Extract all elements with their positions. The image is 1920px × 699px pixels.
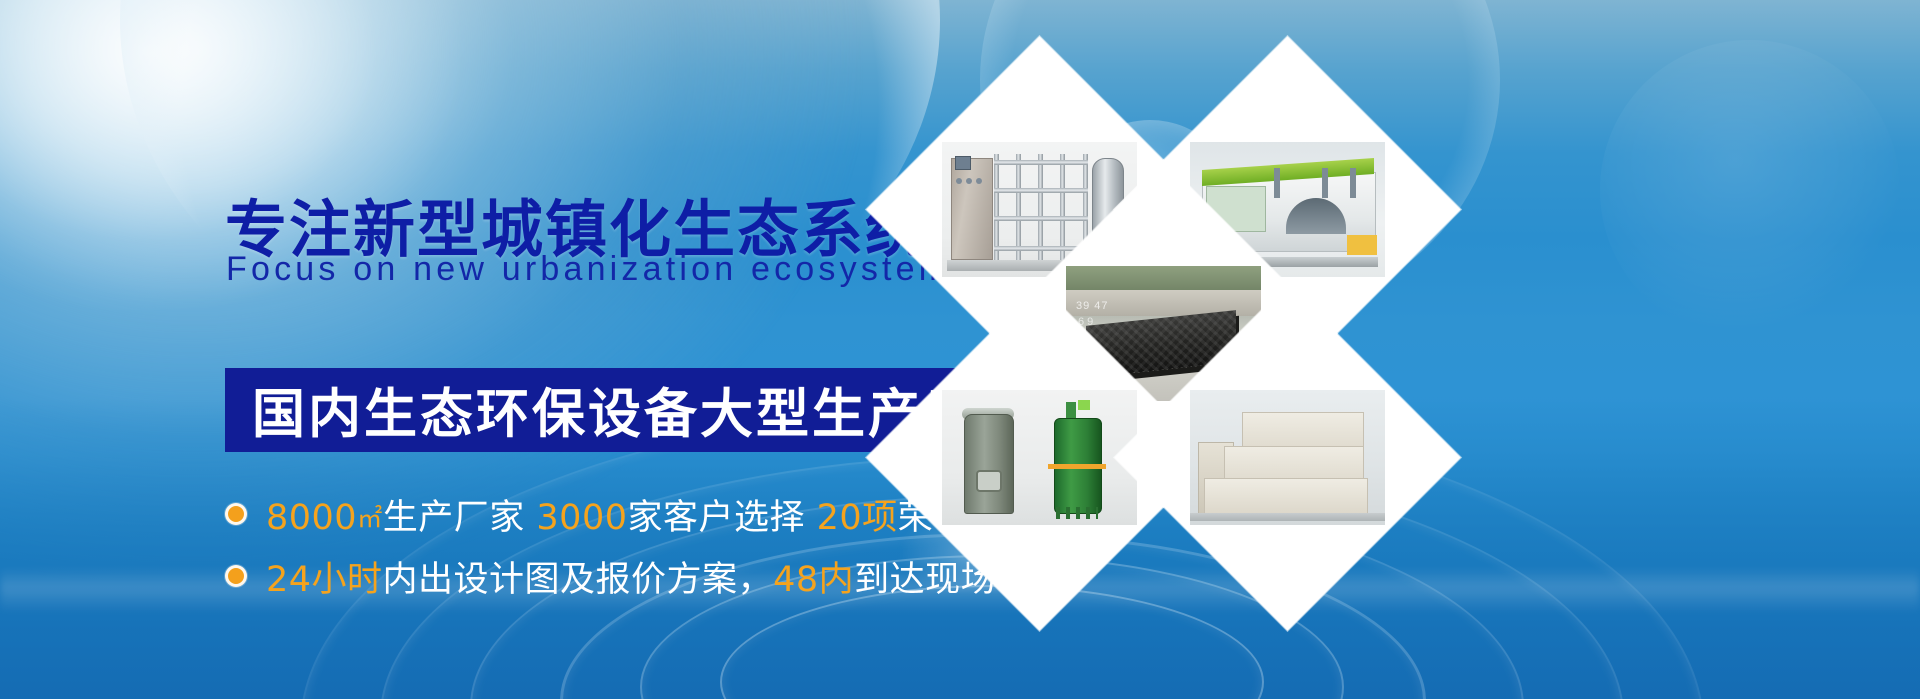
feature-text-2: 24小时内出设计图及报价方案，48内到达现场 (266, 551, 996, 602)
banner-subheadline: Focus on new urbanization ecosystem (226, 250, 951, 289)
feature-list: 8000㎡生产厂家 3000家客户选择 20项荣誉证书 24小时内出设计图及报价… (225, 488, 985, 612)
list-item: 24小时内出设计图及报价方案，48内到达现场 (225, 550, 985, 602)
hero-banner: 专注新型城镇化生态系统领域 Focus on new urbanization … (0, 0, 1920, 699)
banner-copy: 专注新型城镇化生态系统领域 Focus on new urbanization … (0, 0, 1000, 699)
bullet-dot-icon (225, 503, 247, 525)
bullet-dot-icon (225, 565, 247, 587)
highlight-box: 国内生态环保设备大型生产厂家 (225, 368, 955, 452)
list-item: 8000㎡生产厂家 3000家客户选择 20项荣誉证书 (225, 488, 985, 540)
product-photo-vertical-tanks (942, 390, 1137, 525)
product-diamond-gallery: 39 47 6 9 (905, 55, 1920, 505)
product-photo-wall-panels (1190, 390, 1385, 525)
